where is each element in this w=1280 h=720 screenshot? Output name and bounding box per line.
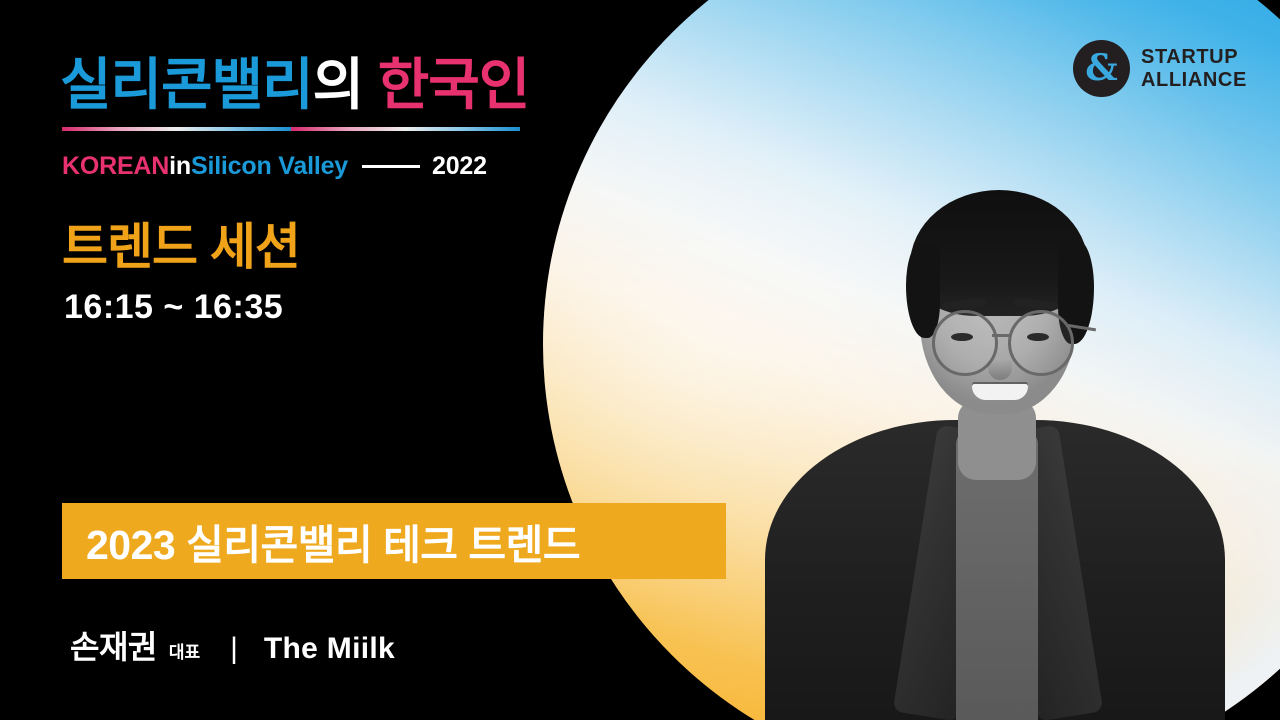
portrait-mouth bbox=[972, 384, 1028, 400]
presentation-slide: & STARTUP ALLIANCE 실리콘밸리의 한국인 KOREAN in … bbox=[0, 0, 1280, 720]
logo-wordmark: STARTUP ALLIANCE bbox=[1141, 46, 1247, 91]
speaker-role: 대표 bbox=[169, 638, 200, 663]
startup-alliance-logo: & STARTUP ALLIANCE bbox=[1073, 40, 1247, 97]
ampersand-glyph: & bbox=[1085, 50, 1118, 86]
session-label: 트렌드 세션 bbox=[62, 207, 300, 279]
logo-wordmark-line1: STARTUP bbox=[1141, 46, 1247, 68]
subtitle-dash bbox=[362, 165, 420, 168]
portrait-hair bbox=[910, 190, 1088, 316]
speaker-line: 손재권 대표 | The Miilk bbox=[70, 622, 395, 668]
event-title-part3: 한국인 bbox=[378, 53, 530, 116]
subtitle-place: Silicon Valley bbox=[191, 152, 348, 181]
speaker-name: 손재권 bbox=[70, 622, 157, 668]
speaker-organization: The Miilk bbox=[264, 632, 395, 666]
subtitle-in: in bbox=[169, 152, 191, 181]
talk-title-banner: 2023 실리콘밸리 테크 트렌드 bbox=[62, 503, 726, 579]
speaker-separator: | bbox=[230, 632, 238, 666]
event-year: 2022 bbox=[432, 152, 487, 181]
event-title-part1: 실리콘밸리 bbox=[60, 53, 313, 116]
logo-wordmark-line2: ALLIANCE bbox=[1141, 69, 1247, 91]
event-title: 실리콘밸리의 한국인 bbox=[60, 40, 529, 121]
portrait-eyeglass-bridge bbox=[992, 334, 1010, 337]
title-divider-rule bbox=[62, 127, 520, 131]
event-title-part2: 의 bbox=[313, 53, 364, 116]
portrait-eyeglass-right bbox=[1008, 310, 1074, 376]
talk-title: 2023 실리콘밸리 테크 트렌드 bbox=[86, 511, 580, 571]
subtitle-korean: KOREAN bbox=[62, 152, 169, 181]
speaker-portrait-photo bbox=[760, 150, 1230, 720]
session-time: 16:15 ~ 16:35 bbox=[64, 288, 283, 327]
ampersand-circle-icon: & bbox=[1073, 40, 1130, 97]
event-subtitle: KOREAN in Silicon Valley 2022 bbox=[62, 152, 487, 181]
portrait-nose bbox=[988, 346, 1012, 380]
